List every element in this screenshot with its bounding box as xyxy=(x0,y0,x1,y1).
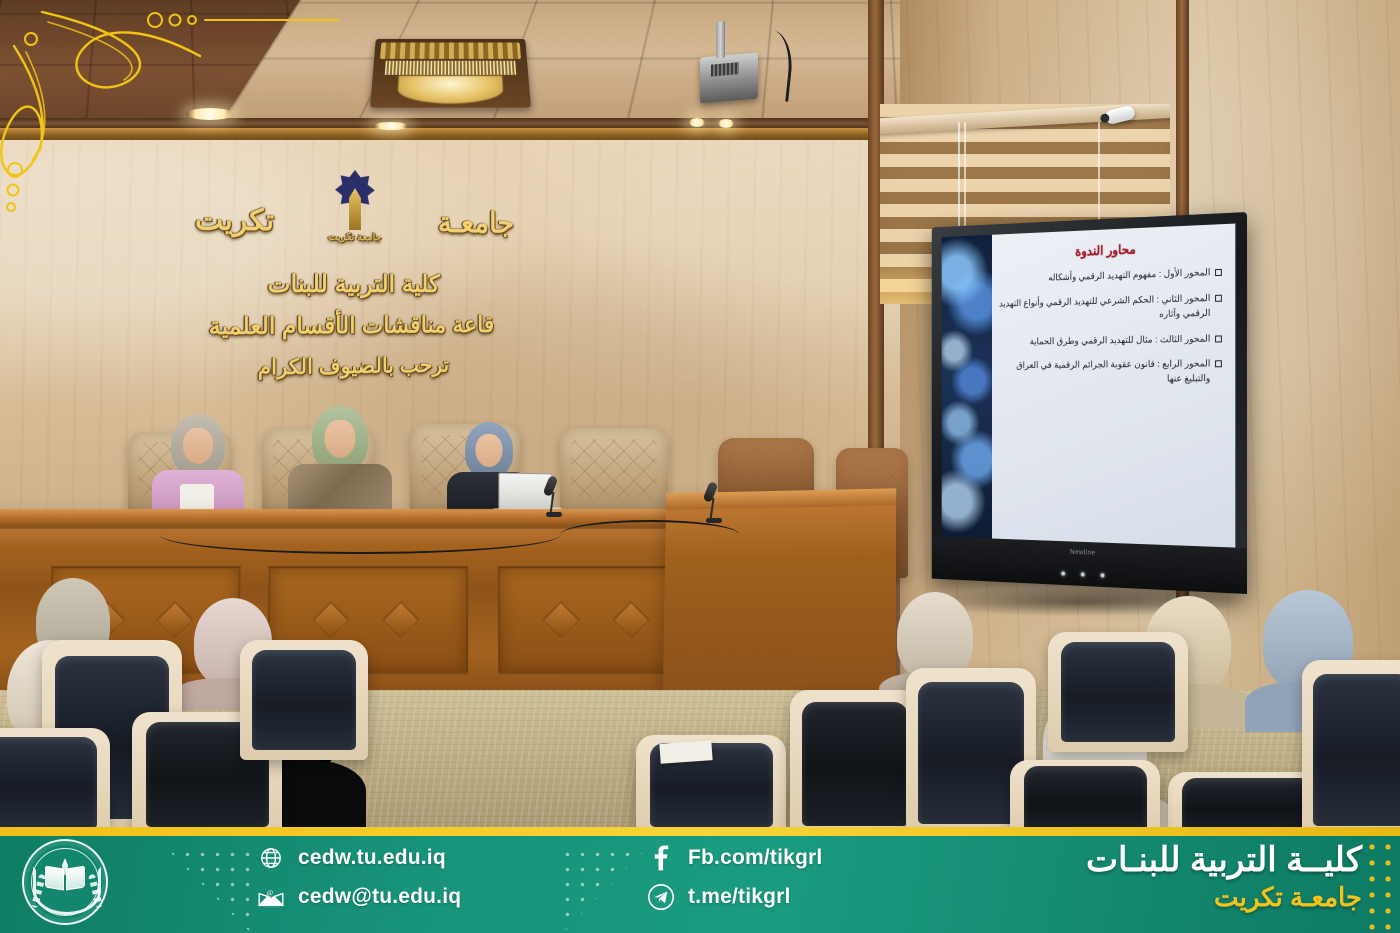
ceiling-light-fixture xyxy=(370,39,531,108)
fixture-lens xyxy=(397,76,504,104)
interactive-display[interactable]: محاور الندوة المحور الأول : مفهوم التهدي… xyxy=(932,212,1247,594)
sign-college-name: كلية التربية للبنات xyxy=(176,269,524,299)
telegram-icon xyxy=(648,884,674,910)
fixture-fretwork xyxy=(380,43,521,59)
microphone-cable xyxy=(160,516,560,554)
empty-panel-chair xyxy=(560,428,668,520)
sign-tikrit-word: تكريت xyxy=(195,202,274,239)
screenshot-root: جامعـة تكريت جامعة تكريت كلية التربية لل… xyxy=(0,0,1400,933)
fixture-grill xyxy=(385,61,516,75)
auditorium-seat xyxy=(1048,632,1188,752)
email-address: cedw@tu.edu.iq xyxy=(298,885,461,909)
slide-title: محاور الندوة xyxy=(995,238,1221,263)
auditorium-seat xyxy=(1010,760,1160,833)
open-book-icon xyxy=(45,867,85,889)
slide-image-collage xyxy=(942,235,992,539)
facebook-row[interactable]: Fb.com/tikgrl xyxy=(648,845,822,871)
svg-text:@: @ xyxy=(267,889,274,897)
bullet-checkbox-icon xyxy=(1215,269,1222,276)
bullet-checkbox-icon xyxy=(1215,295,1222,302)
website-row[interactable]: cedw.tu.edu.iq xyxy=(258,845,461,871)
auditorium-seat xyxy=(1302,660,1400,833)
ceiling-strip-light xyxy=(186,108,234,120)
website-url: cedw.tu.edu.iq xyxy=(298,846,446,870)
venue-wall-sign: جامعـة تكريت جامعة تكريت كلية التربية لل… xyxy=(176,175,524,402)
ceiling-spotlight xyxy=(718,119,734,128)
paper-sheet xyxy=(659,740,712,764)
page-footer: cedw.tu.edu.iq @ cedw@tu.edu.iq xyxy=(0,827,1400,933)
telegram-handle: t.me/tikgrl xyxy=(688,885,791,909)
sign-university-word: جامعـة xyxy=(438,205,514,240)
globe-icon xyxy=(258,845,284,871)
display-brand-label: Newline xyxy=(1070,549,1095,557)
sign-welcome-text: ترحب بالضيوف الكرام xyxy=(176,352,524,382)
ceiling-strip-light xyxy=(373,122,409,130)
presentation-slide: محاور الندوة المحور الأول : مفهوم التهدي… xyxy=(989,224,1236,548)
footer-dot-pattern xyxy=(120,847,260,933)
email-row[interactable]: @ cedw@tu.edu.iq xyxy=(258,884,461,910)
bullet-text: المحور الرابع : قانون عقوبة الجرائم الرق… xyxy=(995,358,1210,388)
auditorium-seat xyxy=(790,690,920,833)
ceiling-projector xyxy=(700,52,758,103)
display-screen: محاور الندوة المحور الأول : مفهوم التهدي… xyxy=(942,224,1236,548)
event-photograph: جامعـة تكريت جامعة تكريت كلية التربية لل… xyxy=(0,0,1400,833)
bullet-text: المحور الثاني : الحكم الشرعي للتهديد الر… xyxy=(995,292,1210,326)
sign-emblem-caption: جامعة تكريت xyxy=(328,232,382,243)
bullet-checkbox-icon xyxy=(1215,335,1222,342)
footer-socials: Fb.com/tikgrl t.me/tikgrl xyxy=(648,845,822,910)
college-name: كليــة التربية للبنـات xyxy=(1086,841,1362,880)
telegram-row[interactable]: t.me/tikgrl xyxy=(648,884,822,910)
bullet-text: المحور الأول : مفهوم التهديد الرقمي وأشك… xyxy=(995,266,1210,288)
footer-accent-stripe xyxy=(0,827,1400,836)
university-emblem-icon xyxy=(327,169,383,236)
slide-bullet-item: المحور الثاني : الحكم الشرعي للتهديد الر… xyxy=(995,292,1221,326)
panelist-left xyxy=(150,414,246,518)
display-status-leds xyxy=(1061,572,1104,578)
sign-hall-name: قاعة مناقشات الأقسام العلمية xyxy=(176,311,524,340)
slide-bullet-item: المحور الثالث : مثال للتهديد الرقمي وطرق… xyxy=(995,332,1221,350)
microphone xyxy=(706,482,724,524)
auditorium-seat xyxy=(0,728,110,833)
footer-brand: كليــة التربية للبنـات جامعـة تكريت xyxy=(1086,841,1362,913)
university-name: جامعـة تكريت xyxy=(1086,882,1362,913)
bullet-text: المحور الثالث : مثال للتهديد الرقمي وطرق… xyxy=(995,332,1210,350)
face xyxy=(325,420,356,458)
face xyxy=(476,434,503,467)
slide-bullet-item: المحور الرابع : قانون عقوبة الجرائم الرق… xyxy=(995,358,1221,388)
auditorium-seat xyxy=(240,640,368,760)
microphone-cable xyxy=(560,520,740,550)
footer-dot-pattern-right xyxy=(1364,839,1400,933)
face xyxy=(183,428,213,464)
slide-bullet-item: المحور الأول : مفهوم التهديد الرقمي وأشك… xyxy=(995,266,1221,288)
facebook-handle: Fb.com/tikgrl xyxy=(688,846,822,870)
footer-contacts: cedw.tu.edu.iq @ cedw@tu.edu.iq xyxy=(258,845,461,910)
envelope-icon: @ xyxy=(258,884,284,910)
slide-bullet-list: المحور الأول : مفهوم التهديد الرقمي وأشك… xyxy=(995,266,1221,388)
hijab xyxy=(897,592,973,680)
bullet-checkbox-icon xyxy=(1215,361,1222,368)
college-seal-logo xyxy=(22,839,108,925)
facebook-icon xyxy=(648,845,674,871)
microphone xyxy=(546,476,564,518)
ceiling-spotlight xyxy=(689,118,705,127)
panelist-center xyxy=(288,406,392,518)
